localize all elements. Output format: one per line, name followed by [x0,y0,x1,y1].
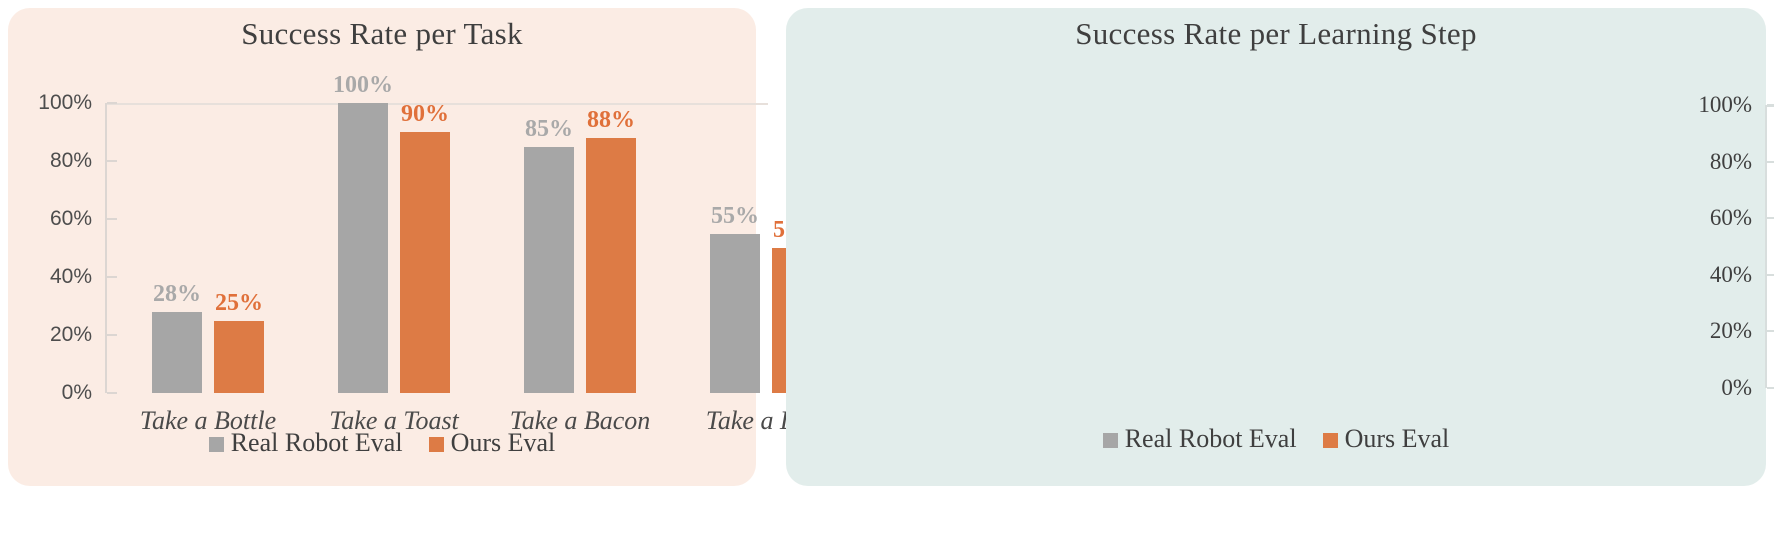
y-axis-tick-label: 40% [1710,262,1752,288]
y-axis-tick [107,160,117,162]
y-axis-tick [107,392,117,394]
bar-value-label: 28% [153,281,201,308]
y-axis-tick [107,276,117,278]
legend-item-real-robot-eval: Real Robot Eval [209,428,403,458]
legend-task: Real Robot Eval Ours Eval [8,428,756,458]
page-title-learning-step: Success Rate per Learning Step [786,16,1766,52]
y-axis-tick [107,218,117,220]
legend-learning-step: Real Robot Eval Ours Eval [786,424,1766,454]
plot-area-task: 0%20%40%60%80%100%28%25%Take a Bottle100… [105,103,750,393]
bar-real-robot-eval [152,312,202,393]
y-axis-tick-label: 80% [1710,149,1752,175]
legend-label: Real Robot Eval [1125,424,1297,454]
y-axis-tick [1767,387,1774,389]
chart-panel-success-rate-per-learning-step: Success Rate per Learning Step 0%20%40%6… [786,8,1766,486]
legend-swatch-icon [209,437,224,452]
y-axis-tick [1767,274,1774,276]
y-axis-tick-label: 60% [50,207,92,231]
legend-label: Ours Eval [451,428,556,458]
legend-swatch-icon [429,437,444,452]
y-axis-tick [1767,104,1774,106]
bar-real-robot-eval [338,103,388,393]
y-axis-tick-label: 0% [1721,375,1752,401]
bar-ours-eval [214,321,264,394]
y-axis-line [1765,105,1767,388]
y-axis-tick [107,102,117,104]
y-axis-tick-label: 100% [1698,92,1752,118]
y-axis-tick-label: 20% [50,323,92,347]
bar-value-label: 90% [401,101,449,128]
y-axis-tick [107,334,117,336]
chart-panel-success-rate-per-task: Success Rate per Task 0%20%40%60%80%100%… [8,8,756,486]
legend-item-ours-eval: Ours Eval [429,428,556,458]
plot-area-learning-step: 0%20%40%60%80%100%40%40%4K61%63%8K79%76%… [1765,105,1774,388]
bar-ours-eval [586,138,636,393]
y-axis-tick-label: 20% [1710,318,1752,344]
bar-real-robot-eval [524,147,574,394]
legend-swatch-icon [1323,433,1338,448]
legend-item-real-robot-eval: Real Robot Eval [1103,424,1297,454]
y-axis-line [105,103,107,393]
y-axis-tick [1767,330,1774,332]
y-axis-tick [1767,217,1774,219]
legend-label: Ours Eval [1345,424,1450,454]
y-axis-tick-label: 0% [62,381,92,405]
bar-ours-eval [400,132,450,393]
y-axis-tick-label: 80% [50,149,92,173]
bar-value-label: 25% [215,290,263,317]
bar-real-robot-eval [710,234,760,394]
page-title-task: Success Rate per Task [8,16,756,52]
legend-label: Real Robot Eval [231,428,403,458]
y-axis-tick-label: 60% [1710,205,1752,231]
legend-swatch-icon [1103,433,1118,448]
bar-value-label: 55% [711,203,759,230]
y-axis-tick-label: 40% [50,265,92,289]
y-axis-tick [1767,161,1774,163]
bar-value-label: 88% [587,107,635,134]
y-axis-tick-label: 100% [38,91,92,115]
legend-item-ours-eval: Ours Eval [1323,424,1450,454]
bar-value-label: 85% [525,116,573,143]
bar-value-label: 100% [333,72,393,99]
